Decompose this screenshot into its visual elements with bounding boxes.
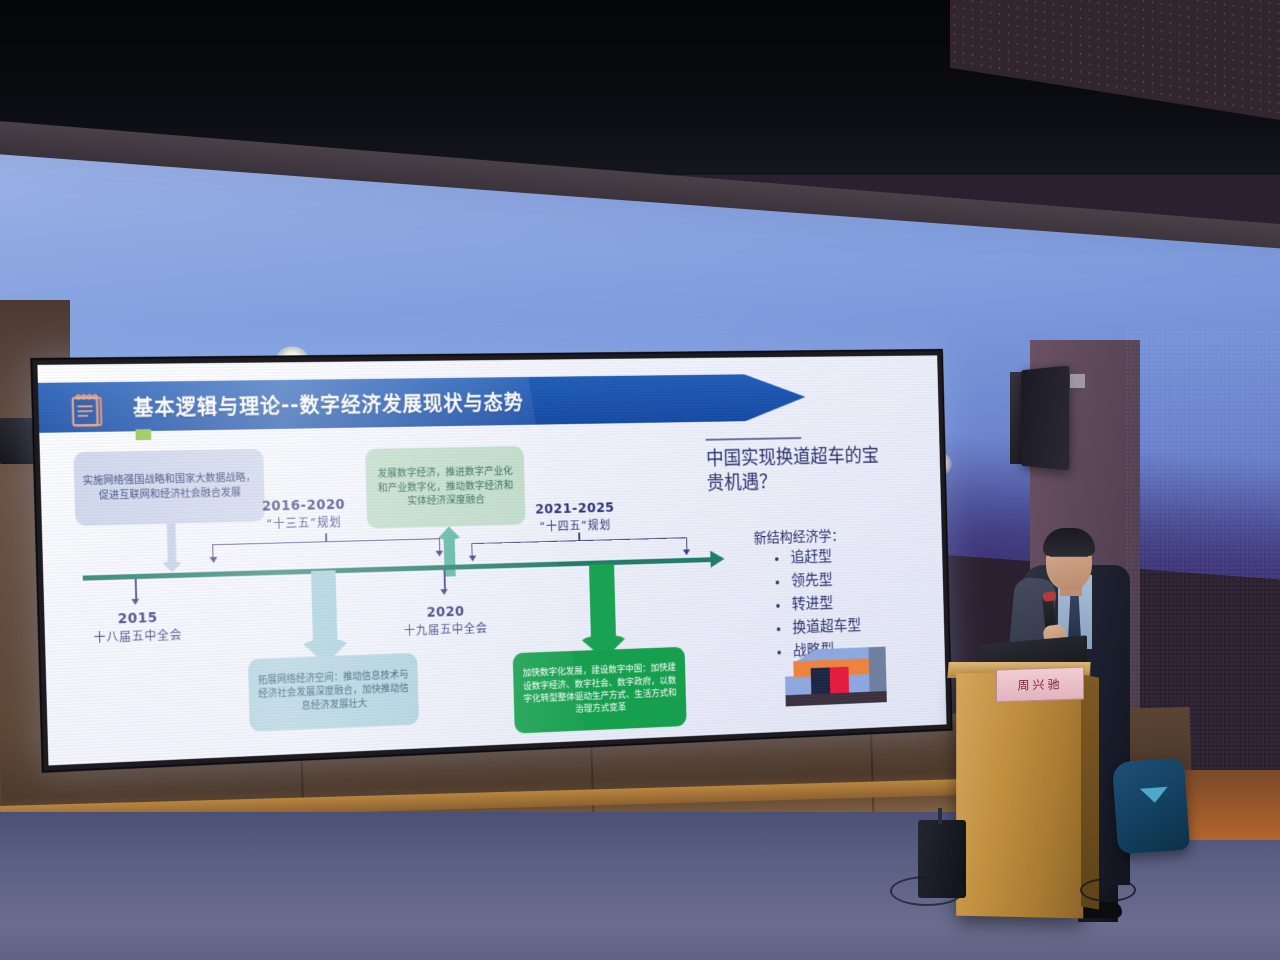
- microphone-head-icon: [1043, 591, 1057, 601]
- period-plan-145: “十四五”规划: [507, 517, 642, 536]
- right-panel-rule: [706, 437, 802, 440]
- down-arrow-145: [574, 563, 632, 660]
- podium-nameplate: 周兴驰: [996, 666, 1084, 702]
- annotation-box-135: 拓展网络经济空间：推动信息技术与经济社会发展深度融合，加快推动信息经济发展壮大: [248, 653, 419, 732]
- brace-stem-145: [578, 533, 580, 542]
- connector-arrow-2015: [159, 523, 184, 571]
- bullet-item: 转进型: [773, 594, 861, 615]
- milestone-event-2020: 十九届五中全会: [376, 619, 515, 639]
- tick-arrow-2015: [131, 599, 139, 605]
- lecture-hall-scene: 基本逻辑与理论--数字经济发展现状与态势 实施网络强国战略和国家大数据战略，促进…: [0, 0, 1280, 960]
- bullet-item: 换道超车型: [773, 617, 861, 638]
- floor-cables: [890, 876, 964, 906]
- annotation-box-145: 加快数字化发展，建设数字中国：加快建设数字经济、数字社会、数字政府，以数字化转型…: [513, 647, 687, 734]
- slide-canvas: 基本逻辑与理论--数字经济发展现状与态势 实施网络强国战略和国家大数据战略，促进…: [37, 355, 946, 765]
- down-arrow-135: [295, 570, 354, 665]
- annotation-box-2020: 发展数字经济，推进数字产业化和产业数字化，推动数字经济和实体经济深度融合: [365, 446, 526, 529]
- podium: [956, 671, 1083, 919]
- notepad-icon: [68, 390, 106, 428]
- floor-cables: [1080, 878, 1136, 902]
- backpack: [1112, 758, 1190, 855]
- tick-2015: [135, 579, 137, 601]
- brace-stem-135: [325, 533, 327, 542]
- right-panel-list-title: 新结构经济学：: [753, 526, 844, 548]
- title-accent-chip: [135, 429, 151, 440]
- milestone-2020: 2020 十九届五中全会: [376, 601, 515, 640]
- wall-plate-icon: [1070, 374, 1085, 388]
- decorative-blocks-graphic: [784, 645, 887, 707]
- period-plan-135: “十三五”规划: [233, 514, 375, 533]
- timeline-axis-arrow-icon: [710, 550, 724, 567]
- tick-arrow-2020: [440, 589, 448, 595]
- projection-screen[interactable]: 基本逻辑与理论--数字经济发展现状与态势 实施网络强国战略和国家大数据战略，促进…: [30, 349, 952, 773]
- equipment-case-handle: [938, 808, 942, 824]
- bullet-item: 追赶型: [771, 547, 859, 567]
- milestone-2015: 2015 十八届五中全会: [64, 607, 211, 647]
- bullet-item: 领先型: [772, 570, 860, 590]
- right-panel-question: 中国实现换道超车的宝贵机遇？: [706, 443, 880, 496]
- period-label-145: 2021-2025 “十四五”规划: [507, 499, 643, 536]
- glasses-icon: [1050, 556, 1088, 565]
- speaker-hair: [1043, 528, 1095, 556]
- period-label-135: 2016-2020 “十三五”规划: [232, 495, 375, 533]
- podium-side: [1081, 674, 1099, 909]
- wall-speaker-right: [1021, 365, 1069, 470]
